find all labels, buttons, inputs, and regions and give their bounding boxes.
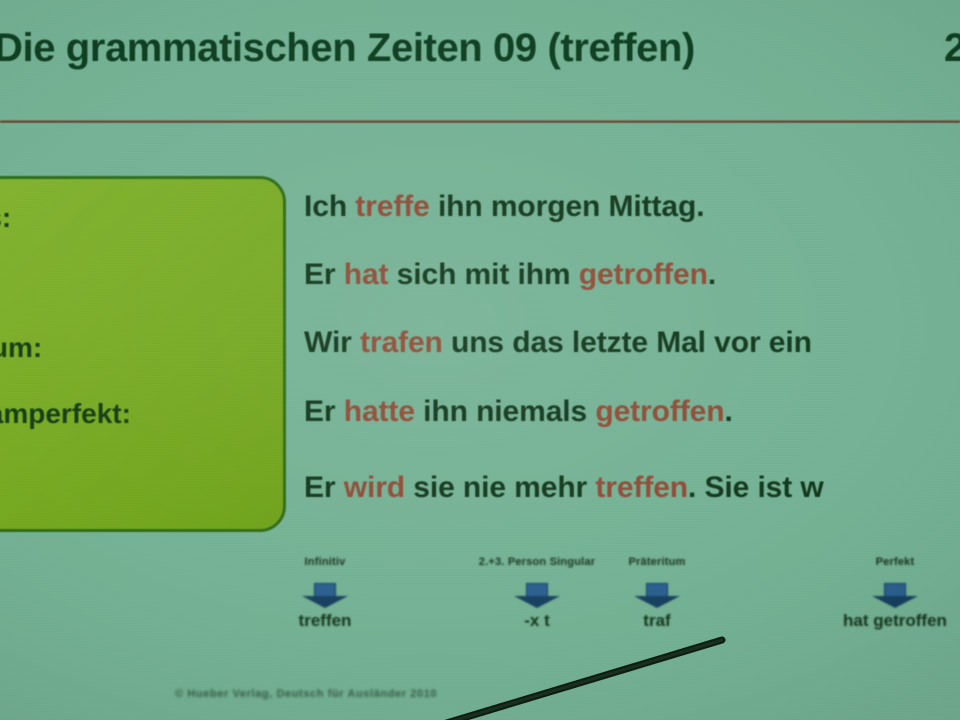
tense-label-praeteritum: teritum: (0, 332, 42, 364)
highlighted-verb: getroffen (595, 395, 724, 428)
diagram-column-infinitiv: Infinitiv treffen (220, 556, 430, 631)
tense-label-list: sens: fekt: teritum: squamperfekt: ur: (0, 176, 286, 532)
diagram-caption: Perfekt (790, 556, 960, 582)
diagram-column-praeteritum: Präteritum traf (552, 556, 762, 631)
footer-credit: © Hueber Verlag, Deutsch für Ausländer 2… (175, 688, 437, 700)
sentence-text: Wir (304, 326, 360, 359)
sentence-futur: Er wird sie nie mehr treffen. Sie ist w (304, 471, 824, 505)
sentence-text: Er (304, 258, 344, 291)
sentence-text: sie nie mehr (405, 471, 595, 504)
tense-label-praesens: sens: (0, 202, 11, 234)
sentence-text: . Sie ist w (688, 471, 824, 504)
down-arrow-icon (634, 583, 680, 609)
highlighted-verb: trafen (360, 326, 443, 359)
diagram-word: traf (552, 611, 762, 631)
sentence-text: Er (304, 395, 344, 428)
diagram-column-perfekt: Perfekt hat getroffen (790, 556, 960, 631)
diagram-word: hat getroffen (790, 611, 960, 631)
highlighted-verb: treffen (595, 471, 688, 504)
diagram-word: treffen (220, 611, 430, 631)
highlighted-verb: getroffen (579, 258, 708, 291)
highlighted-verb: hat (344, 258, 389, 291)
sentence-text: Ich (304, 190, 355, 223)
sentence-text: . (724, 395, 732, 428)
title-divider-rule (0, 120, 960, 123)
page-title: Die grammatischen Zeiten 09 (treffen) (0, 26, 695, 71)
highlighted-verb: treffe (355, 190, 429, 223)
down-arrow-icon (302, 583, 348, 609)
slide-video-frame: Die grammatischen Zeiten 09 (treffen) 2 … (0, 0, 960, 720)
sentence-text: sich mit ihm (388, 258, 578, 291)
sentence-praeteritum: Wir trafen uns das letzte Mal vor ein (304, 326, 812, 360)
highlighted-verb: hatte (344, 395, 415, 428)
highlighted-verb: wird (344, 471, 405, 504)
verb-forms-diagram: Infinitiv treffen 2.+3. Person Singular … (0, 556, 960, 656)
sentence-praesens: Ich treffe ihn morgen Mittag. (304, 190, 704, 224)
sentence-text: ihn niemals (415, 395, 595, 428)
sentence-text: uns das letzte Mal vor ein (443, 326, 812, 359)
sentence-perfekt: Er hat sich mit ihm getroffen. (304, 258, 716, 292)
slide-content-layer: Die grammatischen Zeiten 09 (treffen) 2 … (0, 0, 960, 720)
diagram-caption: Präteritum (552, 556, 762, 582)
diagram-caption: Infinitiv (220, 556, 430, 582)
down-arrow-icon (872, 583, 918, 609)
sentence-plusquamperfekt: Er hatte ihn niemals getroffen. (304, 395, 733, 429)
tense-label-plusquamperfekt: squamperfekt: (0, 398, 131, 430)
sentence-text: . (708, 258, 716, 291)
page-title-right-cut: 2 (944, 26, 960, 71)
sentence-text: ihn morgen Mittag. (430, 190, 705, 223)
sentence-text: Er (304, 471, 344, 504)
